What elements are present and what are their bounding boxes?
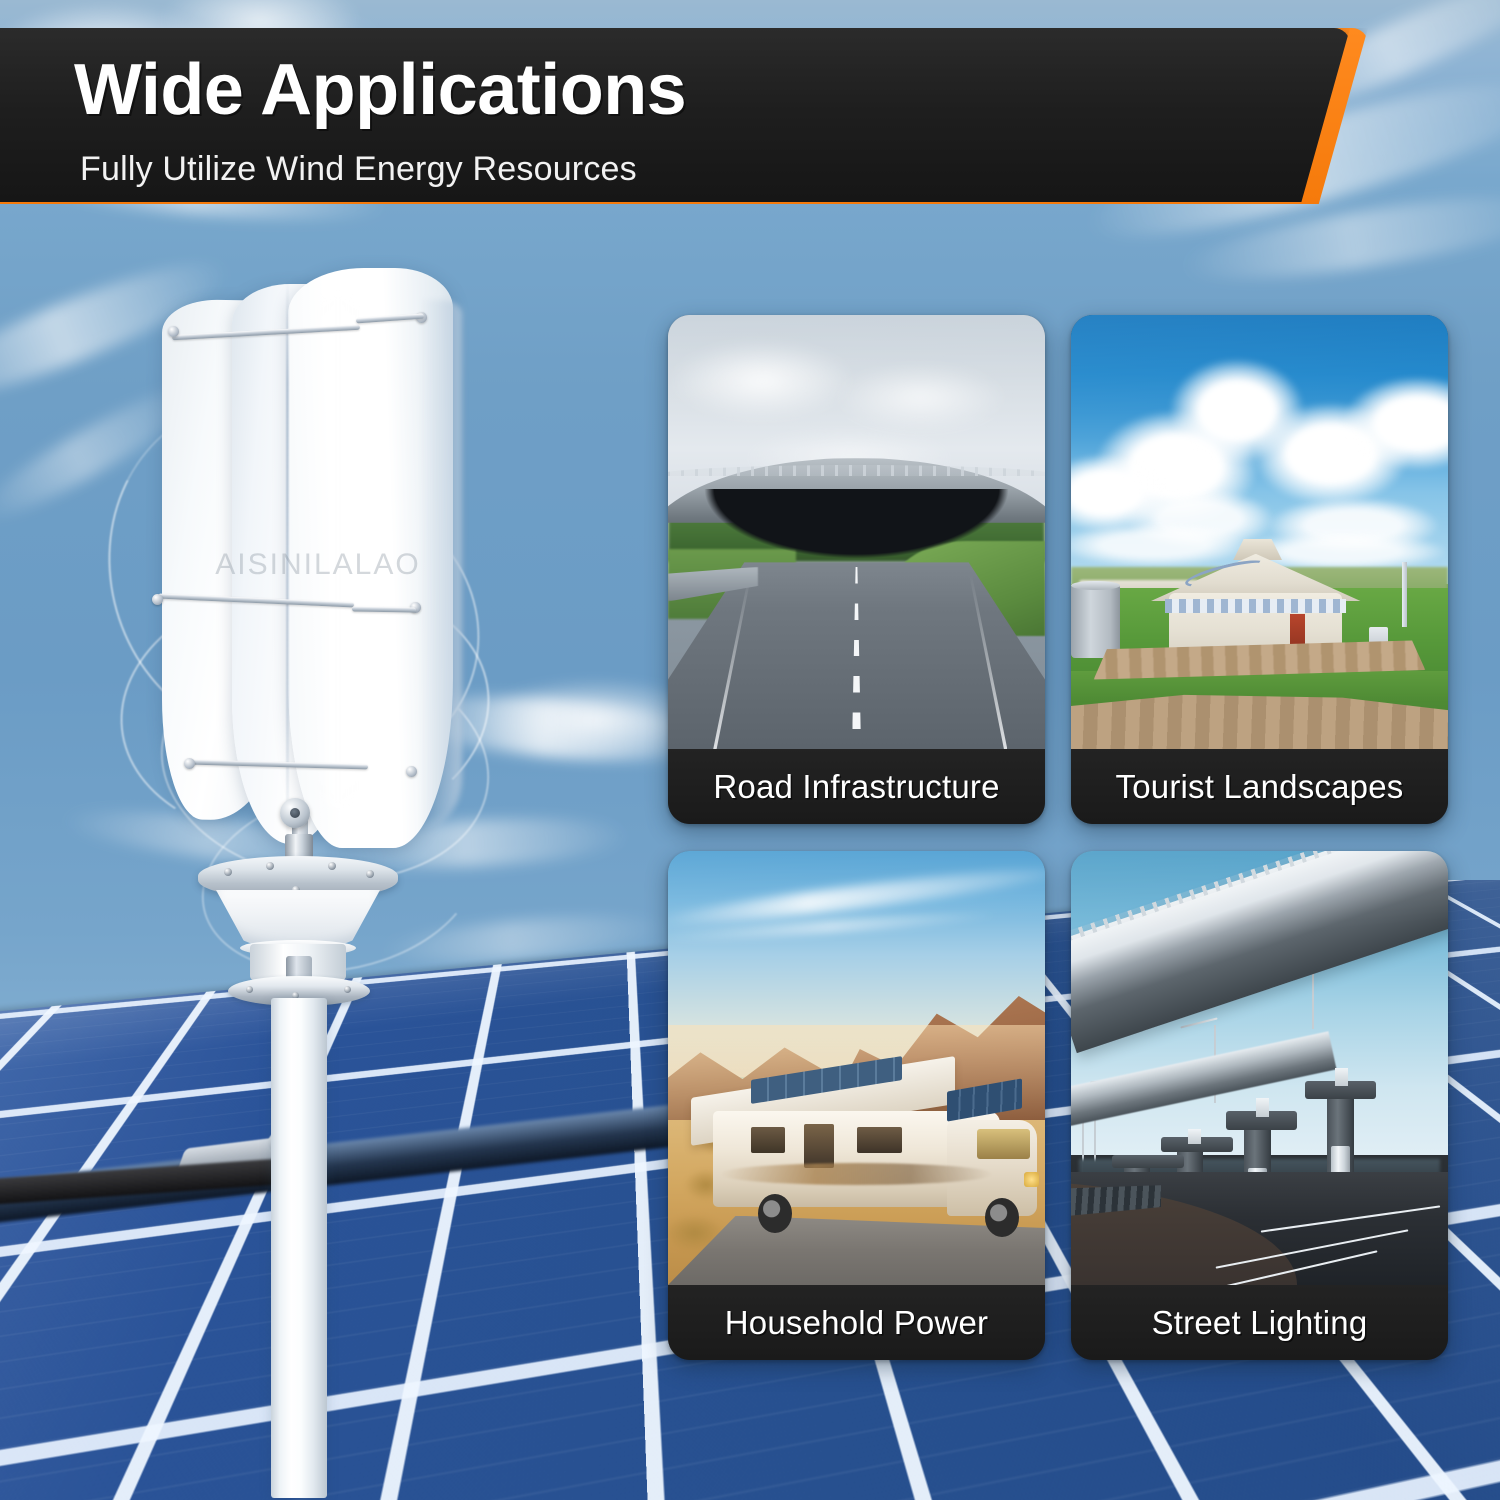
yurt-roof-band: [1165, 599, 1346, 613]
water-tank-top: [1071, 581, 1120, 591]
brand-watermark: AISINILALAO: [168, 548, 468, 582]
card-photo-road-infrastructure: [668, 315, 1045, 749]
turbine-arm-bolt: [406, 766, 417, 777]
application-poster: AISINILALAO Wide Applications Fully Util…: [0, 0, 1500, 1500]
viaduct-pier-cap-highlight: [1335, 1068, 1348, 1086]
rv-desert-scene: [668, 851, 1045, 1285]
mount-bolt: [224, 868, 232, 876]
turbine-arm-bolt: [184, 758, 195, 769]
turbine-arm-bolt: [168, 326, 179, 337]
turbine-hub-knuckle: [280, 798, 310, 828]
application-card-household-power[interactable]: Household Power: [668, 851, 1045, 1360]
application-card-grid: Road Infrastructure: [668, 315, 1448, 1360]
card-photo-tourist-landscapes: [1071, 315, 1448, 749]
road-scene: [668, 315, 1045, 749]
card-label-street-lighting: Street Lighting: [1152, 1304, 1368, 1342]
flange-bolt: [246, 986, 253, 993]
card-label-household-power: Household Power: [725, 1304, 989, 1342]
turbine-arm-bolt: [152, 594, 163, 605]
card-label-tourist-landscapes: Tourist Landscapes: [1116, 768, 1404, 806]
rv-wheel: [985, 1198, 1019, 1237]
card-caption-bar: Tourist Landscapes: [1071, 749, 1448, 824]
card-photo-street-lighting: [1071, 851, 1448, 1285]
card-label-road-infrastructure: Road Infrastructure: [713, 768, 999, 806]
rv-windshield: [977, 1129, 1030, 1159]
rv-headlight: [1024, 1172, 1039, 1187]
card-caption-bar: Road Infrastructure: [668, 749, 1045, 824]
application-card-street-lighting[interactable]: Street Lighting: [1071, 851, 1448, 1360]
mount-bolt: [266, 862, 274, 870]
wind-turbine: AISINILALAO: [120, 250, 520, 1200]
rv-door: [804, 1124, 834, 1167]
application-card-road-infrastructure[interactable]: Road Infrastructure: [668, 315, 1045, 824]
yurt-cloud: [1071, 523, 1252, 566]
mount-bolt: [328, 862, 336, 870]
yurt-scene: [1071, 315, 1448, 749]
viaduct-scene: [1071, 851, 1448, 1285]
card-caption-bar: Household Power: [668, 1285, 1045, 1360]
water-tank: [1071, 584, 1120, 658]
rv-window: [857, 1127, 902, 1153]
mount-bolt: [366, 870, 374, 878]
viaduct-pier-cap: [1112, 1155, 1184, 1168]
rv-window: [751, 1127, 785, 1153]
rv-decal-stripe: [721, 1163, 992, 1185]
card-photo-household-power: [668, 851, 1045, 1285]
flange-bolt: [344, 986, 351, 993]
viaduct-pier-cap-highlight: [1256, 1098, 1269, 1116]
turbine-mast: [271, 998, 327, 1498]
card-caption-bar: Street Lighting: [1071, 1285, 1448, 1360]
viaduct-pier-cap-highlight: [1188, 1129, 1201, 1144]
utility-pole: [1402, 562, 1407, 627]
application-card-tourist-landscapes[interactable]: Tourist Landscapes: [1071, 315, 1448, 824]
